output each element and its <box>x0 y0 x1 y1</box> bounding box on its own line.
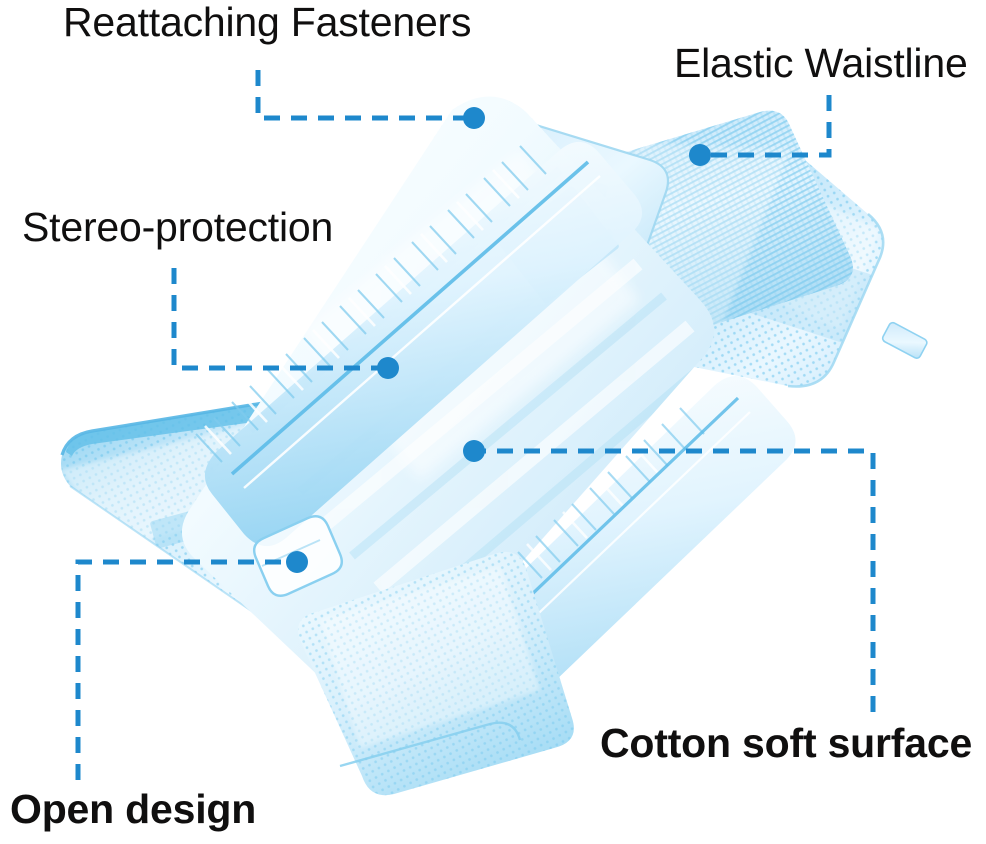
infographic-canvas: Reattaching Fasteners Elastic Waistline … <box>0 0 986 844</box>
callout-label-cotton-soft-surface: Cotton soft surface <box>600 723 972 764</box>
product-image-diaper <box>0 0 986 844</box>
callout-label-open-design: Open design <box>10 789 256 830</box>
callout-label-elastic-waistline: Elastic Waistline <box>674 43 968 84</box>
loose-fastener-tab <box>881 321 928 359</box>
callout-label-stereo-protection: Stereo-protection <box>22 207 333 248</box>
callout-label-reattaching-fasteners: Reattaching Fasteners <box>63 2 471 43</box>
